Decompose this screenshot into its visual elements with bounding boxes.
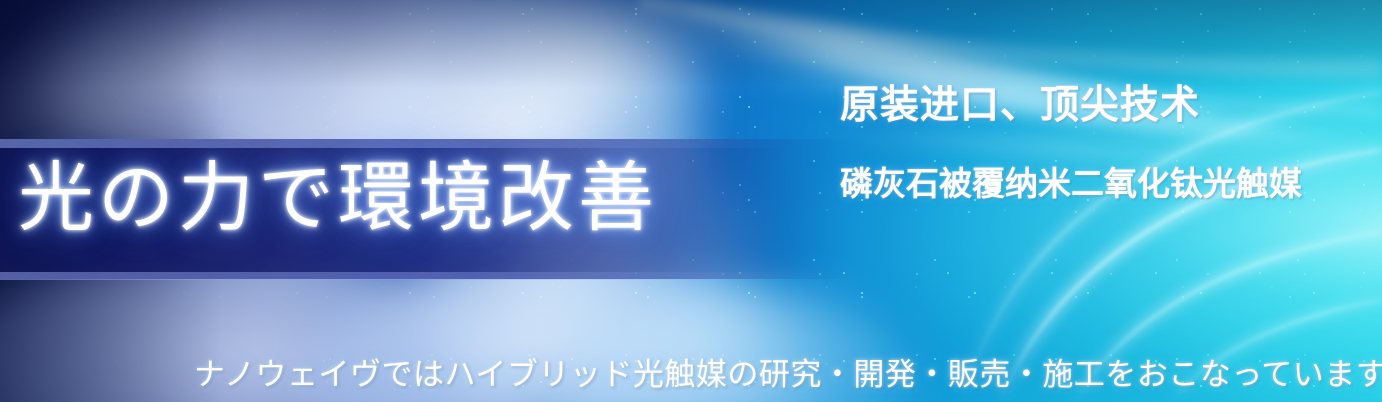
hero-tagline: ナノウェイヴではハイブリッド光触媒の研究・開発・販売・施工をおこなっています: [194, 349, 1382, 394]
hero-banner: 光の力で環境改善 原装进口、顶尖技术 磷灰石被覆纳米二氧化钛光触媒 ナノウェイヴ…: [0, 0, 1382, 402]
band-bottom-highlight: [0, 272, 790, 280]
hero-headline: 光の力で環境改善: [18, 160, 658, 236]
promo-line-primary: 原装进口、顶尖技术: [840, 74, 1200, 130]
band-top-highlight: [0, 139, 790, 148]
promo-line-secondary: 磷灰石被覆纳米二氧化钛光触媒: [840, 157, 1302, 205]
